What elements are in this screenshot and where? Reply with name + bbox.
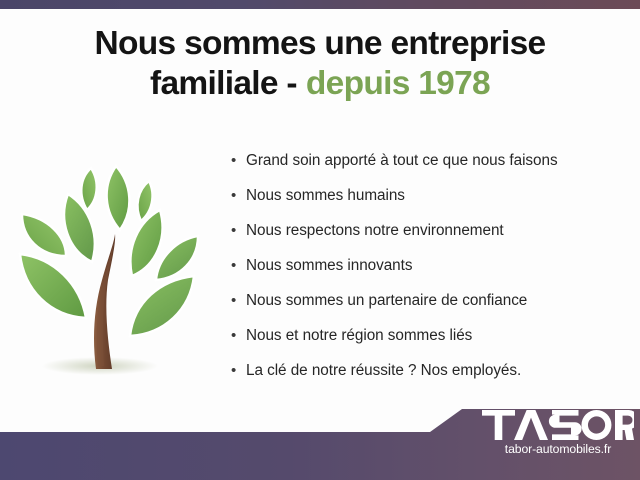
leaf-upper-right-small bbox=[138, 181, 153, 221]
leaf-far-left bbox=[22, 214, 66, 256]
list-item: • Nous sommes innovants bbox=[231, 257, 631, 292]
list-item-label: Nous respectons notre environnement bbox=[246, 222, 504, 240]
list-item: • Grand soin apporté à tout ce que nous … bbox=[231, 152, 631, 187]
benefits-list: • Grand soin apporté à tout ce que nous … bbox=[231, 152, 631, 397]
logo-tagline: tabor-automobiles.fr bbox=[482, 442, 634, 456]
logo-letter-r bbox=[615, 410, 634, 440]
leaf-far-right bbox=[156, 236, 198, 280]
tabor-wordmark bbox=[482, 410, 634, 440]
logo-letter-b bbox=[549, 410, 582, 440]
tree-graphic bbox=[8, 138, 213, 383]
list-item: • Nous respectons notre environnement bbox=[231, 222, 631, 257]
bullet-marker-icon: • bbox=[231, 223, 246, 238]
bullet-marker-icon: • bbox=[231, 328, 246, 343]
leaf-lower-left bbox=[20, 254, 86, 318]
list-item-label: Grand soin apporté à tout ce que nous fa… bbox=[246, 152, 558, 170]
bullet-marker-icon: • bbox=[231, 293, 246, 308]
tree-illustration bbox=[8, 138, 213, 383]
bullet-marker-icon: • bbox=[231, 363, 246, 378]
top-accent-band bbox=[0, 0, 640, 9]
list-item-label: Nous sommes innovants bbox=[246, 257, 412, 275]
bullet-marker-icon: • bbox=[231, 153, 246, 168]
headline-line-1: Nous sommes une entreprise bbox=[95, 25, 546, 62]
logo-letter-a bbox=[514, 410, 548, 440]
list-item: • La clé de notre réussite ? Nos employé… bbox=[231, 362, 631, 397]
headline-line-2-main: familiale - bbox=[150, 65, 297, 102]
headline-accent: depuis 1978 bbox=[306, 65, 490, 102]
list-item-label: Nous sommes un partenaire de confiance bbox=[246, 292, 527, 310]
list-item-label: La clé de notre réussite ? Nos employés. bbox=[246, 362, 521, 380]
logo-letter-t bbox=[482, 410, 515, 440]
leaf-upper-left-small bbox=[81, 168, 96, 210]
page-title: Nous sommes une entreprise familiale -de… bbox=[0, 26, 640, 101]
list-item: • Nous et notre région sommes liés bbox=[231, 327, 631, 362]
leaf-lower-right bbox=[130, 276, 194, 336]
list-item-label: Nous et notre région sommes liés bbox=[246, 327, 472, 345]
leaf-top-center bbox=[107, 166, 130, 230]
headline-line-2: familiale -depuis 1978 bbox=[0, 66, 640, 102]
brand-logo[interactable]: tabor-automobiles.fr bbox=[482, 410, 634, 456]
logo-letter-o bbox=[581, 410, 611, 440]
list-item: • Nous sommes humains bbox=[231, 187, 631, 222]
bullet-marker-icon: • bbox=[231, 258, 246, 273]
leaf-mid-right bbox=[130, 210, 162, 276]
bullet-marker-icon: • bbox=[231, 188, 246, 203]
slide-canvas: Nous sommes une entreprise familiale -de… bbox=[0, 0, 640, 480]
list-item: • Nous sommes un partenaire de confiance bbox=[231, 292, 631, 327]
list-item-label: Nous sommes humains bbox=[246, 187, 405, 205]
